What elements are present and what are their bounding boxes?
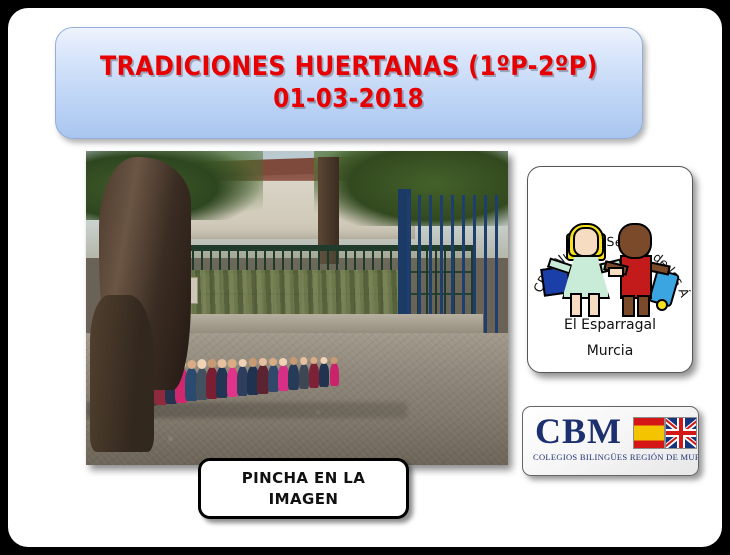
cbm-badge[interactable]: CBM COLEGIOS BILINGÜES REGIÓN DE MURCIA — [522, 406, 699, 476]
activity-photo[interactable] — [86, 151, 508, 465]
photo-child-head — [310, 357, 317, 364]
click-image-caption[interactable]: PINCHA EN LA IMAGEN — [198, 458, 409, 519]
photo-child-head — [269, 358, 277, 366]
school-logo-figures — [542, 221, 678, 313]
photo-child-head — [187, 360, 196, 369]
boy-head — [618, 223, 652, 259]
caption-line-2: IMAGEN — [269, 489, 339, 509]
girl-leg-left — [570, 293, 582, 317]
photo-child-head — [290, 357, 298, 365]
photo-container — [78, 143, 508, 465]
united-kingdom-flag-icon — [665, 417, 697, 449]
photo-child-head — [259, 358, 267, 366]
photo-child — [309, 363, 319, 387]
photo-child-head — [228, 359, 237, 368]
page-title: TRADICIONES HUERTANAS (1ºP-2ºP) — [100, 53, 598, 81]
photo-tree-trunk-lower — [90, 295, 153, 452]
photo-child — [319, 363, 329, 387]
photo-child-head — [321, 357, 328, 364]
photo-child-head — [249, 358, 257, 366]
boy-shirt — [620, 255, 652, 299]
photo-child — [257, 365, 268, 393]
photo-child — [299, 364, 309, 389]
photo-child-head — [197, 359, 206, 368]
school-city-label: Murcia — [528, 343, 692, 359]
photo-child-head — [331, 357, 338, 364]
photo-child-head — [218, 359, 227, 368]
photo-child-head — [279, 358, 287, 366]
girl-face — [573, 227, 599, 257]
girl-leg-right — [588, 293, 600, 317]
caption-line-1: PINCHA EN LA — [242, 468, 366, 488]
cbm-subtitle: COLEGIOS BILINGÜES REGIÓN DE MURCIA — [533, 452, 685, 462]
school-town-label: El Esparragal — [528, 317, 692, 333]
boy-leg-left — [622, 295, 635, 317]
boy-suitcase-wheel — [656, 299, 668, 311]
photo-child-head — [238, 359, 247, 368]
page-content: TRADICIONES HUERTANAS (1ºP-2ºP) 01-03-20… — [8, 8, 722, 547]
photo-gate — [407, 195, 500, 333]
joined-hands — [608, 267, 624, 277]
photo-child — [330, 363, 340, 386]
outer-frame: TRADICIONES HUERTANAS (1ºP-2ºP) 01-03-20… — [0, 0, 730, 555]
cbm-acronym: CBM — [535, 413, 622, 449]
event-date: 01-03-2018 — [274, 86, 425, 113]
spain-flag-icon — [633, 417, 665, 449]
photo-child-head — [208, 359, 217, 368]
title-banner: TRADICIONES HUERTANAS (1ºP-2ºP) 01-03-20… — [55, 27, 643, 139]
photo-child — [278, 365, 289, 392]
school-logo-card[interactable]: CBM Nuestra Señora de los Ángeles — [527, 166, 693, 373]
photo-child-head — [300, 357, 308, 365]
photo-child — [288, 364, 298, 390]
boy-leg-right — [637, 295, 650, 317]
photo-child — [268, 365, 279, 392]
